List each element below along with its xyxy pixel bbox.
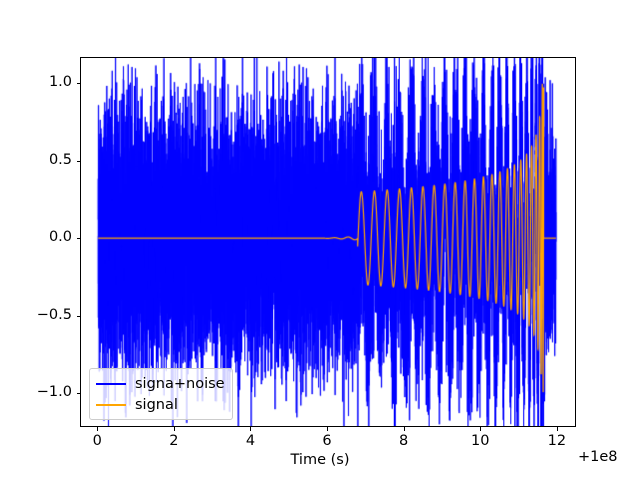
y-tick-mark: [77, 238, 81, 239]
y-tick-mark: [77, 393, 81, 394]
x-tick-mark: [174, 427, 175, 431]
x-tick-mark: [97, 427, 98, 431]
x-tick-label: 12: [548, 433, 566, 449]
x-tick-label: 4: [246, 433, 255, 449]
legend-item-signal-noise[interactable]: signa+noise: [96, 373, 225, 394]
legend-swatch-signal: [96, 404, 126, 406]
x-tick-mark: [250, 427, 251, 431]
x-tick-mark: [480, 427, 481, 431]
x-tick-mark: [557, 427, 558, 431]
legend-item-signal[interactable]: signal: [96, 394, 225, 415]
x-axis-offset-text: +1e8: [578, 449, 618, 465]
y-tick-mark: [77, 83, 81, 84]
x-tick-label: 2: [169, 433, 178, 449]
y-tick-label: 0.0: [0, 229, 72, 245]
x-tick-mark: [327, 427, 328, 431]
legend: signa+noise signal: [89, 368, 233, 420]
x-tick-label: 6: [322, 433, 331, 449]
x-tick-label: 0: [93, 433, 102, 449]
y-tick-label: −1.0: [0, 384, 72, 400]
y-tick-label: 1.0: [0, 74, 72, 90]
legend-label-signal-noise: signa+noise: [135, 376, 225, 392]
matplotlib-figure: Tm=11.676953125 signa+noise signal −1.0−…: [0, 0, 640, 480]
legend-swatch-signal-noise: [96, 383, 126, 385]
y-tick-label: 0.5: [0, 152, 72, 168]
x-tick-mark: [404, 427, 405, 431]
x-tick-label: 8: [399, 433, 408, 449]
plot-area: signa+noise signal: [80, 57, 576, 427]
legend-label-signal: signal: [135, 397, 178, 413]
x-tick-label: 10: [471, 433, 489, 449]
y-tick-label: −0.5: [0, 307, 72, 323]
y-tick-mark: [77, 316, 81, 317]
x-axis-label: Time (s): [0, 452, 640, 468]
y-tick-mark: [77, 161, 81, 162]
